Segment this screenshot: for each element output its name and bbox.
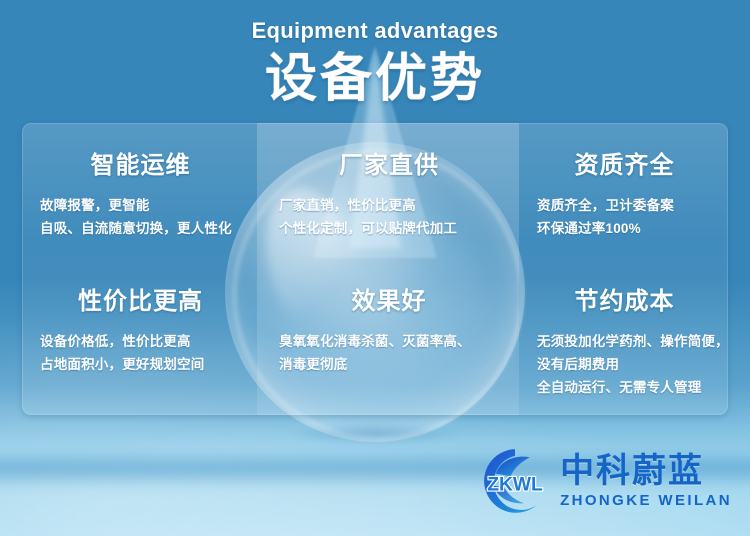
header-english-title: Equipment advantages <box>0 18 750 44</box>
advantages-panel: 智能运维 故障报警，更智能 自吸、自流随意切换，更人性化 厂家直供 厂家直销，性… <box>22 123 728 415</box>
zkwl-badge-text: ZKWL <box>487 475 543 496</box>
advantage-line-2-1: 厂家直销，性价比更高 <box>279 194 503 217</box>
logo-text-block: 中科蔚蓝 ZHONGKE WEILAN <box>560 454 732 508</box>
advantage-line-6-3: 全自动运行、无需专人管理 <box>537 376 712 399</box>
advantage-line-1-1: 故障报警，更智能 <box>40 194 241 217</box>
logo-company-en: ZHONGKE WEILAN <box>560 493 732 508</box>
advantage-title-4: 性价比更高 <box>40 281 241 316</box>
header: Equipment advantages 设备优势 <box>0 0 750 107</box>
advantage-title-3: 资质齐全 <box>537 145 712 180</box>
advantage-cell-2: 厂家直供 厂家直销，性价比更高 个性化定制，可以贴牌代加工 <box>257 123 519 259</box>
advantage-title-5: 效果好 <box>275 281 503 316</box>
advantage-line-4-2: 占地面积小，更好规划空间 <box>40 353 241 376</box>
advantage-cell-1: 智能运维 故障报警，更智能 自吸、自流随意切换，更人性化 <box>22 123 257 259</box>
advantage-line-3-1: 资质齐全，卫计委备案 <box>537 194 712 217</box>
advantage-line-1-2: 自吸、自流随意切换，更人性化 <box>40 217 241 240</box>
advantage-cell-6: 节约成本 无须投加化学药剂、操作简便， 没有后期费用 全自动运行、无需专人管理 <box>519 259 728 415</box>
advantage-cell-4: 性价比更高 设备价格低，性价比更高 占地面积小，更好规划空间 <box>22 259 257 415</box>
advantage-title-1: 智能运维 <box>40 145 241 180</box>
advantage-line-4-1: 设备价格低，性价比更高 <box>40 330 241 353</box>
advantage-line-5-2: 消毒更彻底 <box>279 353 503 376</box>
company-logo[interactable]: ZKWL 中科蔚蓝 ZHONGKE WEILAN <box>478 444 732 518</box>
advantage-cell-3: 资质齐全 资质齐全，卫计委备案 环保通过率100% <box>519 123 728 259</box>
advantage-cell-5: 效果好 臭氧氧化消毒杀菌、灭菌率高、 消毒更彻底 <box>257 259 519 415</box>
advantage-title-2: 厂家直供 <box>275 145 503 180</box>
water-drop-shadow <box>259 420 491 448</box>
advantages-grid: 智能运维 故障报警，更智能 自吸、自流随意切换，更人性化 厂家直供 厂家直销，性… <box>22 123 728 415</box>
advantage-title-6: 节约成本 <box>537 281 712 316</box>
advantage-line-2-2: 个性化定制，可以贴牌代加工 <box>279 217 503 240</box>
header-chinese-title: 设备优势 <box>0 52 750 107</box>
zkwl-dolphin-badge-icon: ZKWL <box>478 444 552 518</box>
advantage-line-6-1: 无须投加化学药剂、操作简便， <box>537 330 712 353</box>
advantage-line-3-2: 环保通过率100% <box>537 217 712 240</box>
poster-canvas: Equipment advantages 设备优势 智能运维 故障报警，更智能 … <box>0 0 750 536</box>
advantage-line-6-2: 没有后期费用 <box>537 353 712 376</box>
advantage-line-5-1: 臭氧氧化消毒杀菌、灭菌率高、 <box>279 330 503 353</box>
logo-company-cn: 中科蔚蓝 <box>560 454 732 488</box>
